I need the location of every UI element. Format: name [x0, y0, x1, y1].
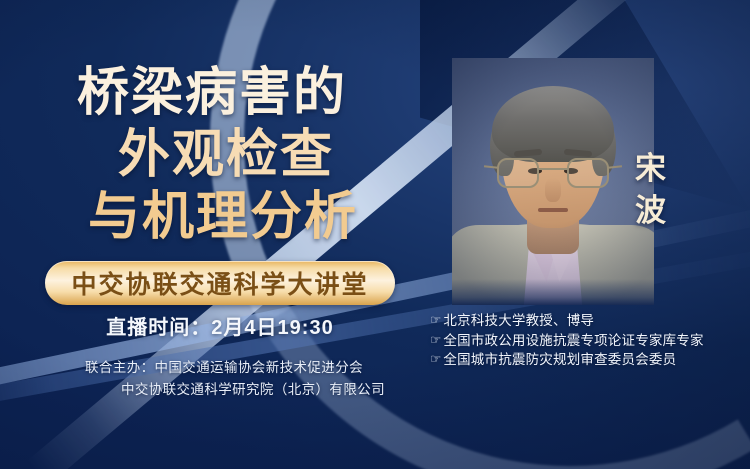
speaker-name: 宋 波	[628, 148, 674, 232]
speaker-name-char-1: 宋	[628, 148, 674, 190]
pointing-hand-icon: ☞	[430, 350, 441, 370]
pointing-hand-icon: ☞	[430, 311, 441, 331]
speaker-name-char-2: 波	[628, 190, 674, 232]
webinar-poster: 宋 波 桥梁病害的 外观检查 与机理分析 中交协联交通科学大讲堂 直播时间：2月…	[0, 0, 750, 469]
title-line-2: 外观检查	[0, 124, 430, 186]
organizer-line-2: 中交协联交通科学研究院（北京）有限公司	[0, 379, 448, 401]
credential-item: ☞ 全国城市抗震防灾规划审查委员会委员	[430, 350, 748, 370]
speaker-credentials: ☞ 北京科技大学教授、博导 ☞ 全国市政公用设施抗震专项论证专家库专家 ☞ 全国…	[430, 311, 748, 370]
speaker-photo	[452, 58, 654, 305]
series-badge-wrapper: 中交协联交通科学大讲堂	[0, 261, 440, 305]
title-line-1: 桥梁病害的	[0, 62, 430, 124]
page-title: 桥梁病害的 外观检查 与机理分析	[0, 62, 430, 248]
organizers-block: 联合主办：中国交通运输协会新技术促进分会 中交协联交通科学研究院（北京）有限公司	[0, 357, 448, 401]
live-time-label: 直播时间：2月4日19:30	[0, 311, 440, 340]
photo-shading	[452, 58, 654, 305]
photo-bottom-fade	[452, 279, 654, 305]
credential-item: ☞ 全国市政公用设施抗震专项论证专家库专家	[430, 331, 748, 351]
credential-item: ☞ 北京科技大学教授、博导	[430, 311, 748, 331]
organizer-line-1: 联合主办：中国交通运输协会新技术促进分会	[0, 357, 448, 379]
credential-text: 全国市政公用设施抗震专项论证专家库专家	[443, 331, 703, 351]
credential-text: 全国城市抗震防灾规划审查委员会委员	[443, 350, 676, 370]
left-content-column: 桥梁病害的 外观检查 与机理分析 中交协联交通科学大讲堂 直播时间：2月4日19…	[0, 0, 448, 469]
series-badge: 中交协联交通科学大讲堂	[45, 261, 394, 305]
pointing-hand-icon: ☞	[430, 331, 441, 351]
credential-text: 北京科技大学教授、博导	[443, 311, 594, 331]
title-line-3: 与机理分析	[0, 186, 430, 248]
